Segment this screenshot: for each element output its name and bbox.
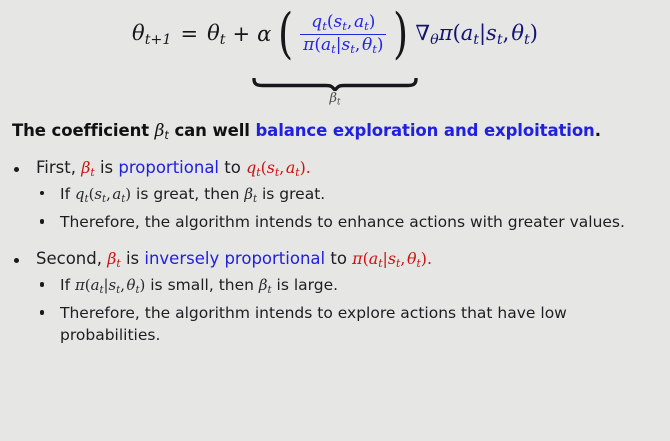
- headline: The coefficient βt can well balance expl…: [12, 121, 601, 142]
- seg-is-small-then: is small, then: [145, 276, 259, 294]
- list-item: If π(at|st, θt) is small, then βt is lar…: [36, 274, 670, 298]
- seg-first-lead: First,: [36, 158, 81, 177]
- seg-q-red: qt(st, at).: [246, 158, 311, 177]
- plus-sign: +: [232, 24, 250, 45]
- seg-to: to: [325, 249, 352, 268]
- list-spacer: [0, 237, 670, 249]
- bullet-dot-icon: [14, 258, 19, 263]
- seg-inversely-proportional: inversely proportional: [144, 249, 325, 268]
- list-item: Therefore, the algorithm intends to enha…: [36, 211, 670, 233]
- list-item: If qt(st, at) is great, then βt is great…: [36, 183, 670, 207]
- underbrace-label: βt: [252, 91, 418, 107]
- seg-is: is: [121, 249, 145, 268]
- subbullet-therefore-explore: Therefore, the algorithm intends to expl…: [60, 304, 567, 344]
- seg-is-great-then: is great, then: [131, 185, 244, 203]
- seg-is-large: is large.: [272, 276, 338, 294]
- list-item: Second, βt is inversely proportional to …: [0, 249, 670, 346]
- sub-bullet-list-second: If π(at|st, θt) is small, then βt is lar…: [36, 274, 670, 346]
- seg-proportional: proportional: [118, 158, 219, 177]
- subbullet-if-pi-small: If π(at|st, θt) is small, then βt is lar…: [60, 276, 338, 294]
- display-equation: θt+1 = θt + α ( qt(st, at) π(at|st, θt) …: [0, 14, 670, 56]
- list-item: First, βt is proportional to qt(st, at).…: [0, 158, 670, 233]
- seg-beta-red: βt: [81, 158, 94, 177]
- right-paren: ): [393, 17, 408, 50]
- equals-sign: =: [180, 24, 198, 45]
- seg-second-lead: Second,: [36, 249, 107, 268]
- seg-pi-red: π(at|st, θt).: [352, 249, 432, 268]
- underbrace-icon: [252, 78, 418, 91]
- seg-to: to: [219, 158, 246, 177]
- bullet-second-text: Second, βt is inversely proportional to …: [36, 249, 432, 268]
- bullet-list: First, βt is proportional to qt(st, at).…: [0, 158, 670, 350]
- seg-is-great: is great.: [257, 185, 325, 203]
- headline-period: .: [595, 121, 601, 140]
- seg-beta-math: βt: [244, 185, 257, 203]
- seg-if: If: [60, 185, 75, 203]
- underbrace-group: βt: [252, 78, 418, 107]
- headline-beta: β: [155, 121, 165, 141]
- headline-highlight: balance exploration and exploitation: [255, 121, 594, 140]
- seg-beta-red: βt: [107, 249, 120, 268]
- subbullet-therefore-enhance: Therefore, the algorithm intends to enha…: [60, 213, 625, 231]
- headline-part1: The coefficient: [12, 121, 155, 140]
- subbullet-if-q-great: If qt(st, at) is great, then βt is great…: [60, 185, 325, 203]
- seg-if: If: [60, 276, 75, 294]
- seg-q-math: qt(st, at): [75, 185, 131, 203]
- seg-pi-math: π(at|st, θt): [75, 276, 145, 294]
- left-paren: (: [278, 17, 293, 50]
- bullet-dot-icon: [40, 191, 44, 195]
- list-item: Therefore, the algorithm intends to expl…: [36, 302, 670, 346]
- bullet-dot-icon: [40, 310, 44, 314]
- fraction-numerator: qt(st, at): [309, 14, 377, 34]
- equation-row: θt+1 = θt + α ( qt(st, at) π(at|st, θt) …: [132, 14, 538, 56]
- bullet-first-text: First, βt is proportional to qt(st, at).: [36, 158, 311, 177]
- alpha-symbol: α: [257, 24, 271, 45]
- sub-bullet-list-first: If qt(st, at) is great, then βt is great…: [36, 183, 670, 233]
- slide-canvas: θt+1 = θt + α ( qt(st, at) π(at|st, θt) …: [0, 0, 670, 441]
- bullet-dot-icon: [40, 219, 44, 223]
- equation-theta-t: θt: [207, 23, 225, 47]
- policy-gradient-term: ∇θπ(at|st, θt): [415, 23, 538, 47]
- beta-fraction: qt(st, at) π(at|st, θt): [296, 14, 390, 56]
- seg-beta-math: βt: [259, 276, 272, 294]
- fraction-denominator: π(at|st, θt): [301, 35, 385, 56]
- seg-is: is: [95, 158, 119, 177]
- equation-lhs: θt+1: [132, 23, 171, 47]
- headline-part2: can well: [169, 121, 256, 140]
- bullet-dot-icon: [14, 167, 19, 172]
- bullet-dot-icon: [40, 282, 44, 286]
